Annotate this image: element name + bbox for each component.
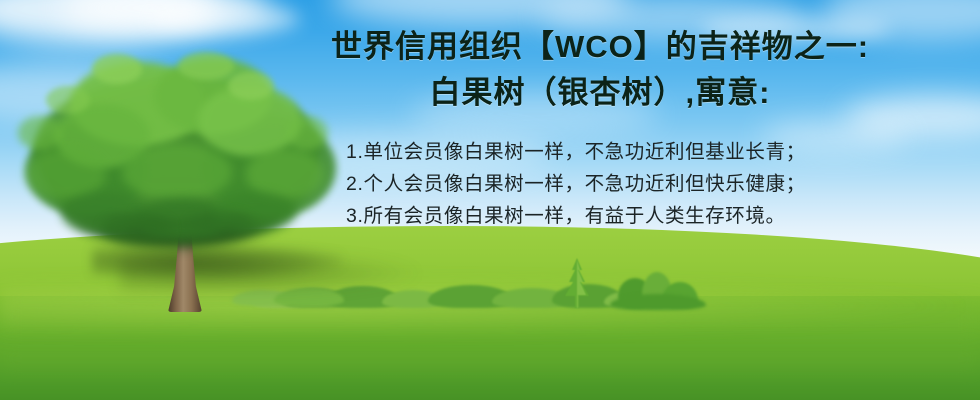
- ginkgo-tree: [18, 52, 338, 312]
- mascot-meaning-list: 1.单位会员像白果树一样，不急功近利但基业长青； 2.个人会员像白果树一样，不急…: [300, 136, 900, 232]
- banner-title-line-1: 世界信用组织【WCO】的吉祥物之一:: [300, 26, 900, 68]
- conifer-icon: [560, 258, 594, 310]
- conifer-tree: [560, 258, 594, 310]
- leaf-clump: [46, 86, 90, 114]
- leaf-clump: [92, 54, 142, 84]
- leaf-clump: [228, 72, 274, 100]
- grass-band: [0, 346, 980, 372]
- banner-text-block: 世界信用组织【WCO】的吉祥物之一: 白果树（银杏树）,寓意: 1.单位会员像白…: [300, 26, 900, 232]
- list-item: 2.个人会员像白果树一样，不急功近利但快乐健康；: [346, 168, 900, 200]
- list-item: 3.所有会员像白果树一样，有益于人类生存环境。: [346, 200, 900, 232]
- leaf-clump: [18, 116, 62, 150]
- list-item: 1.单位会员像白果树一样，不急功近利但基业长青；: [346, 136, 900, 168]
- shrub-cluster: [616, 268, 706, 310]
- canopy-highlight: [122, 144, 232, 200]
- leaf-clump: [178, 52, 234, 80]
- shrub: [610, 294, 706, 310]
- canopy-fringe: [102, 214, 172, 242]
- cloud-icon: [150, 4, 300, 34]
- banner-title-line-2: 白果树（银杏树）,寓意:: [300, 72, 900, 114]
- canopy-fringe: [188, 212, 254, 238]
- wco-mascot-banner: 世界信用组织【WCO】的吉祥物之一: 白果树（银杏树）,寓意: 1.单位会员像白…: [0, 0, 980, 400]
